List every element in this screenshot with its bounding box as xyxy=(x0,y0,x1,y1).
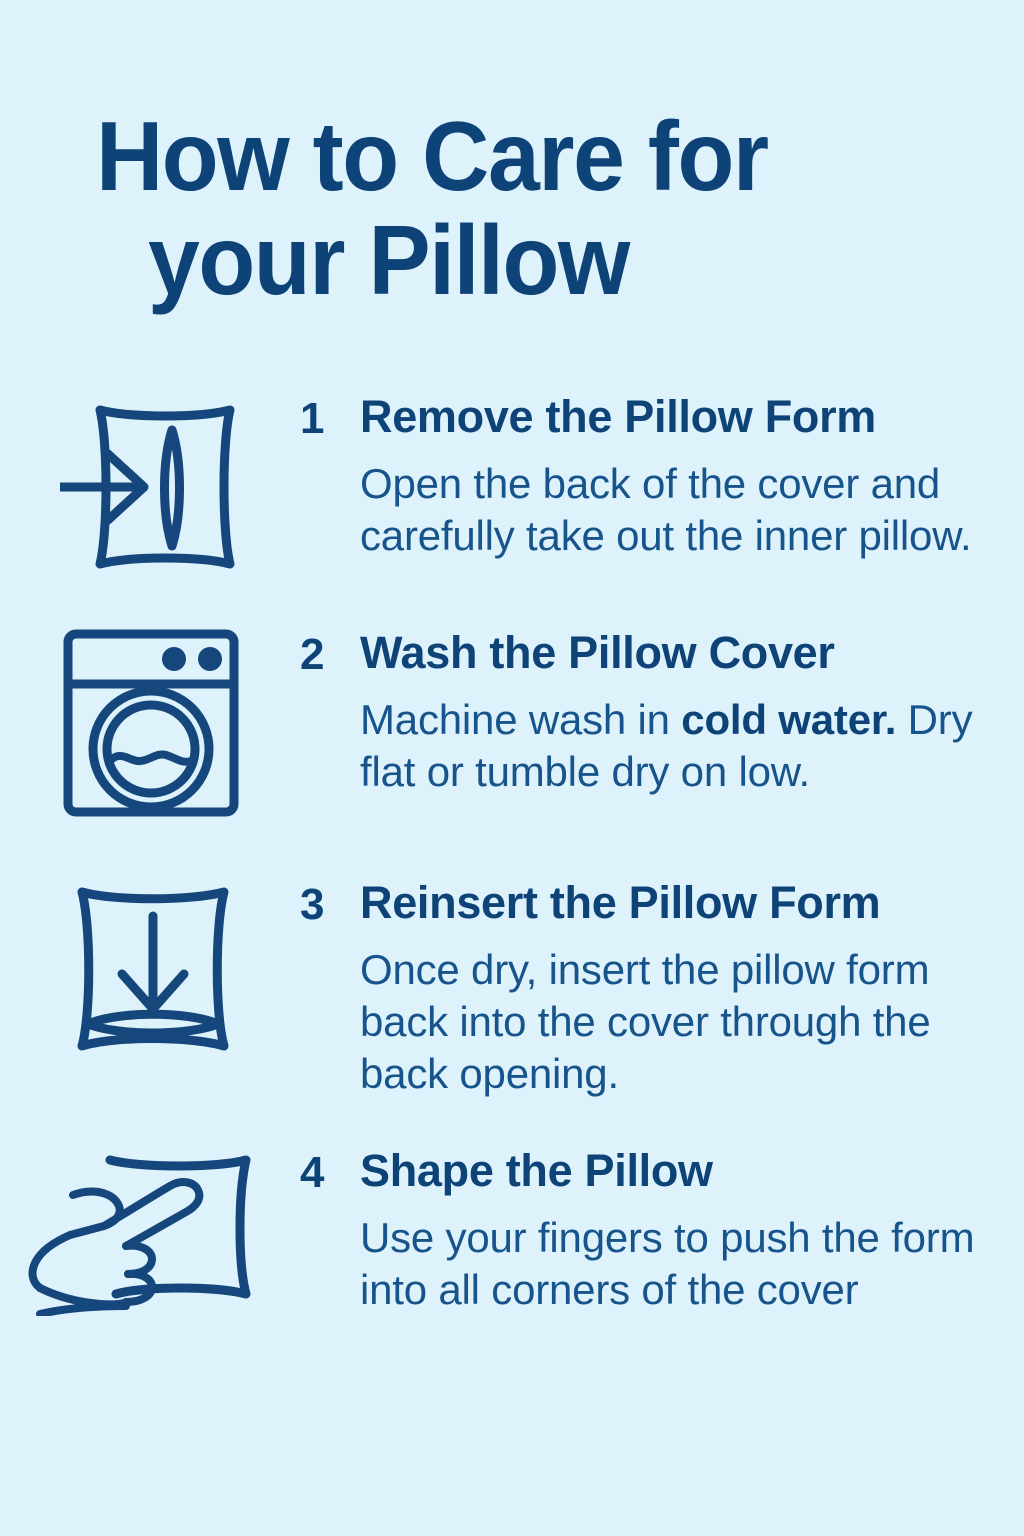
step-3-number: 3 xyxy=(300,878,360,930)
step-3-description: Once dry, insert the pillow form back in… xyxy=(360,944,996,1100)
step-2-number: 2 xyxy=(300,628,360,680)
step-item: 4 Shape the Pillow Use your fingers to p… xyxy=(0,1146,1024,1316)
step-1-icon-slot xyxy=(0,392,300,582)
step-4-icon-slot xyxy=(0,1146,300,1316)
step-2-text: Wash the Pillow Cover Machine wash in co… xyxy=(360,628,1024,798)
step-item: 1 Remove the Pillow Form Open the back o… xyxy=(0,392,1024,582)
pillow-arrow-down-icon xyxy=(60,878,252,1060)
step-2-desc-pre: Machine wash in xyxy=(360,696,681,743)
washing-machine-icon xyxy=(62,628,240,818)
step-1-number: 1 xyxy=(300,392,360,444)
steps-list: 1 Remove the Pillow Form Open the back o… xyxy=(0,392,1024,1316)
step-2-desc-bold: cold water. xyxy=(681,696,896,743)
step-1-description: Open the back of the cover and carefully… xyxy=(360,458,996,562)
pillow-arrow-in-icon xyxy=(60,392,260,582)
page-title: How to Care for your Pillow xyxy=(96,104,936,312)
step-4-heading: Shape the Pillow xyxy=(360,1146,996,1196)
step-4-description: Use your fingers to push the form into a… xyxy=(360,1212,996,1316)
step-item: 3 Reinsert the Pillow Form Once dry, ins… xyxy=(0,878,1024,1100)
step-1-heading: Remove the Pillow Form xyxy=(360,392,996,442)
poster-canvas: How to Care for your Pillow 1 Remove the… xyxy=(0,0,1024,1536)
step-1-desc-pre: Open the back of the cover and carefully… xyxy=(360,460,971,559)
step-3-text: Reinsert the Pillow Form Once dry, inser… xyxy=(360,878,1024,1100)
step-2-description: Machine wash in cold water. Dry flat or … xyxy=(360,694,996,798)
step-4-text: Shape the Pillow Use your fingers to pus… xyxy=(360,1146,1024,1316)
step-4-number: 4 xyxy=(300,1146,360,1198)
hand-pointing-pillow-icon xyxy=(18,1146,258,1316)
step-3-desc-pre: Once dry, insert the pillow form back in… xyxy=(360,946,931,1097)
page-title-line-2: your Pillow xyxy=(148,208,897,312)
step-3-heading: Reinsert the Pillow Form xyxy=(360,878,996,928)
step-4-desc-pre: Use your fingers to push the form into a… xyxy=(360,1214,974,1313)
step-item: 2 Wash the Pillow Cover Machine wash in … xyxy=(0,628,1024,818)
step-3-icon-slot xyxy=(0,878,300,1060)
step-2-icon-slot xyxy=(0,628,300,818)
page-title-line-1: How to Care for xyxy=(96,104,894,208)
step-2-heading: Wash the Pillow Cover xyxy=(360,628,996,678)
step-1-text: Remove the Pillow Form Open the back of … xyxy=(360,392,1024,562)
